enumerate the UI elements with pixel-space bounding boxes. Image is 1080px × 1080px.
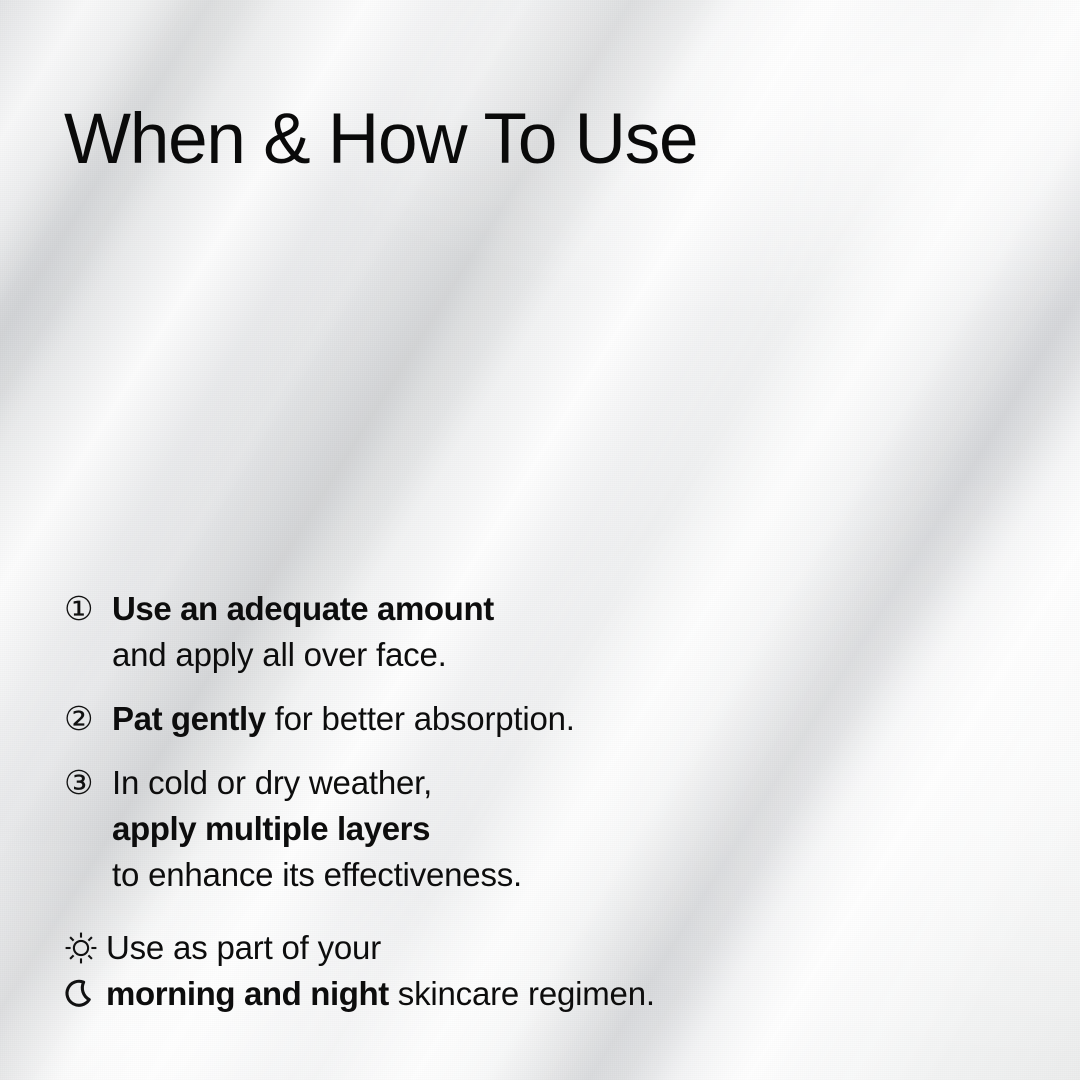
text-run: In cold or dry weather, <box>112 764 432 801</box>
text-emphasis: morning and night <box>106 975 389 1012</box>
text-emphasis: Pat gently <box>112 700 266 737</box>
step-text: Use an adequate amountand apply all over… <box>112 586 1024 678</box>
text-emphasis: apply multiple layers <box>112 810 430 847</box>
step-text-line: to enhance its effectiveness. <box>112 852 1024 898</box>
text-run: for better absorption. <box>266 700 575 737</box>
text-run: to enhance its effectiveness. <box>112 856 522 893</box>
crescent-moon-icon <box>64 977 106 1011</box>
step-item: ①Use an adequate amountand apply all ove… <box>64 586 1024 678</box>
regimen-row: Use as part of your <box>64 925 1044 971</box>
step-text: Pat gently for better absorption. <box>112 696 1024 742</box>
circled-digit-one: ① <box>64 586 104 632</box>
step-item: ③In cold or dry weather,apply multiple l… <box>64 760 1024 898</box>
regimen-text: morning and night skincare regimen. <box>106 971 655 1017</box>
instruction-card: When & How To Use ①Use an adequate amoun… <box>0 0 1080 1080</box>
regimen-note: Use as part of yourmorning and night ski… <box>64 925 1044 1017</box>
circled-digit-two: ② <box>64 696 104 742</box>
regimen-row: morning and night skincare regimen. <box>64 971 1044 1017</box>
text-run: skincare regimen. <box>389 975 655 1012</box>
step-item: ②Pat gently for better absorption. <box>64 696 1024 742</box>
step-text-line: apply multiple layers <box>112 806 1024 852</box>
step-text-line: Pat gently for better absorption. <box>112 696 1024 742</box>
step-text-line: In cold or dry weather, <box>112 760 1024 806</box>
sun-icon <box>64 931 106 965</box>
step-text-line: and apply all over face. <box>112 632 1024 678</box>
step-text: In cold or dry weather,apply multiple la… <box>112 760 1024 898</box>
text-run: Use as part of your <box>106 929 381 966</box>
text-emphasis: Use an adequate amount <box>112 590 494 627</box>
page-title: When & How To Use <box>64 104 697 175</box>
circled-digit-three: ③ <box>64 760 104 806</box>
text-run: and apply all over face. <box>112 636 447 673</box>
regimen-text: Use as part of your <box>106 925 381 971</box>
steps-list: ①Use an adequate amountand apply all ove… <box>64 586 1024 916</box>
content-area: When & How To Use ①Use an adequate amoun… <box>0 0 1080 1080</box>
step-text-line: Use an adequate amount <box>112 586 1024 632</box>
